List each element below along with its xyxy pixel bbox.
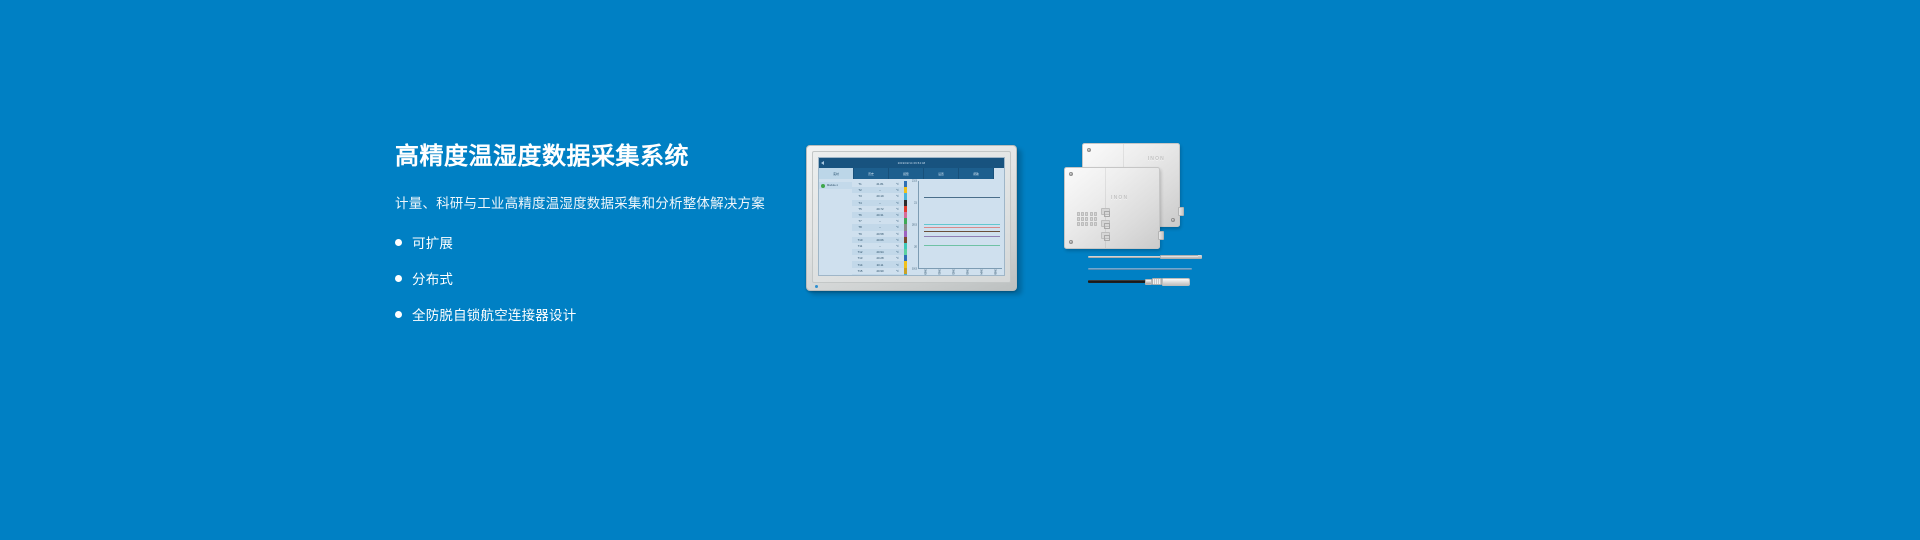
x-tick-label: 09:50:00 bbox=[924, 269, 927, 276]
list-item: 全防脱自锁航空连接器设计 bbox=[395, 304, 815, 324]
y-tick-label: 19.5 bbox=[912, 268, 917, 271]
cell-ch: T15 bbox=[852, 269, 868, 273]
y-tick-label: 20 bbox=[914, 246, 917, 249]
software-titlebar: 2019/02/14 09:54:48 bbox=[819, 158, 1004, 168]
cell-ch: T11 bbox=[852, 244, 868, 248]
cell-ch: T12 bbox=[852, 250, 868, 254]
feature-label: 全防脱自锁航空连接器设计 bbox=[412, 304, 576, 324]
connector-port-icon bbox=[1158, 231, 1164, 240]
probe-cable bbox=[1088, 280, 1148, 282]
cell-ch: T8 bbox=[852, 225, 868, 229]
x-tick-label: 09:54:00 bbox=[980, 269, 983, 276]
cell-unit: ℃ bbox=[892, 256, 903, 260]
cell-val: -- bbox=[868, 201, 892, 205]
page-title: 高精度温湿度数据采集系统 bbox=[395, 142, 815, 172]
tabbar-filler bbox=[994, 168, 1004, 179]
tab-alarm[interactable]: 报警 bbox=[889, 168, 924, 179]
channel-table[interactable]: T121.81℃T2--℃T320.19℃T4--℃T520.72℃T620.3… bbox=[852, 179, 904, 276]
cell-ch: T5 bbox=[852, 207, 868, 211]
list-item: 可扩展 bbox=[395, 232, 815, 252]
cell-val: 20.11 bbox=[868, 263, 892, 267]
page-subtitle: 计量、科研与工业高精度温湿度数据采集和分析整体解决方案 bbox=[395, 192, 815, 212]
feature-label: 分布式 bbox=[412, 268, 453, 288]
hero-copy: 高精度温湿度数据采集系统 计量、科研与工业高精度温湿度数据采集和分析整体解决方案… bbox=[395, 142, 815, 340]
cell-val: -- bbox=[868, 244, 892, 248]
cell-unit: ℃ bbox=[892, 263, 903, 267]
cell-unit: ℃ bbox=[892, 201, 903, 205]
software-tabbar: 实时 历史 报警 设置 帮助 bbox=[819, 168, 1004, 179]
feature-label: 可扩展 bbox=[412, 232, 453, 252]
chart-series-line bbox=[924, 197, 1000, 198]
screw-icon bbox=[1087, 148, 1091, 152]
cell-unit: ℃ bbox=[892, 232, 903, 236]
cell-unit: ℃ bbox=[892, 250, 903, 254]
cell-ch: T7 bbox=[852, 219, 868, 223]
tab-settings[interactable]: 设置 bbox=[924, 168, 959, 179]
cell-unit: ℃ bbox=[892, 244, 903, 248]
chart-series-line bbox=[924, 227, 1000, 228]
cell-val: 21.81 bbox=[868, 182, 892, 186]
chart-y-axis: 21.52120.52019.5 bbox=[907, 181, 918, 269]
chart-series-line bbox=[924, 231, 1000, 232]
cell-val: 20.90 bbox=[868, 269, 892, 273]
terminal-block-icon bbox=[1077, 212, 1097, 226]
cell-unit: ℃ bbox=[892, 269, 903, 273]
cell-val: -- bbox=[868, 225, 892, 229]
product-dataloggers: INON INON bbox=[1064, 143, 1194, 268]
y-tick-label: 21.5 bbox=[912, 180, 917, 183]
aviation-connector-group bbox=[1101, 208, 1110, 239]
hero-banner: 高精度温湿度数据采集系统 计量、科研与工业高精度温湿度数据采集和分析整体解决方案… bbox=[0, 0, 1920, 540]
chart-series-line bbox=[924, 245, 1000, 246]
cell-val: 20.31 bbox=[868, 213, 892, 217]
cell-unit: ℃ bbox=[892, 275, 903, 276]
x-tick-label: 09:52:00 bbox=[952, 269, 955, 276]
chart-series-line bbox=[924, 224, 1000, 225]
screw-icon bbox=[1069, 172, 1073, 176]
cell-val: -- bbox=[868, 219, 892, 223]
brand-logo: INON bbox=[1148, 156, 1165, 162]
probe-lock-nut bbox=[1152, 278, 1162, 285]
cell-ch: T13 bbox=[852, 256, 868, 260]
cell-unit: ℃ bbox=[892, 182, 903, 186]
chart-series-line bbox=[924, 236, 1000, 237]
probe-rod bbox=[1088, 256, 1166, 258]
product-monitor: 2019/02/14 09:54:48 实时 历史 报警 设置 帮助 bbox=[806, 145, 1022, 295]
y-tick-label: 20.5 bbox=[912, 224, 917, 227]
cell-unit: ℃ bbox=[892, 207, 903, 211]
tree-node-label: Module-1 bbox=[827, 184, 838, 187]
bullet-dot-icon bbox=[395, 275, 402, 282]
cell-ch: T14 bbox=[852, 263, 868, 267]
cell-unit: ℃ bbox=[892, 238, 903, 242]
cell-ch: T9 bbox=[852, 232, 868, 236]
y-tick-label: 21 bbox=[914, 202, 917, 205]
aviation-connector-icon bbox=[1101, 208, 1110, 215]
screw-icon bbox=[1069, 240, 1073, 244]
x-tick-label: 09:55:00 bbox=[994, 269, 997, 276]
cell-unit: ℃ bbox=[892, 194, 903, 198]
cell-ch: T16 bbox=[852, 275, 868, 276]
table-row[interactable]: T1620.94℃ bbox=[852, 274, 904, 276]
brand-logo: INON bbox=[1111, 195, 1128, 201]
cell-ch: T1 bbox=[852, 182, 868, 186]
x-tick-label: 09:51:00 bbox=[938, 269, 941, 276]
device-tree: Module-1 bbox=[819, 179, 852, 276]
back-arrow-icon[interactable] bbox=[821, 161, 825, 165]
tab-help[interactable]: 帮助 bbox=[959, 168, 994, 179]
cell-unit: ℃ bbox=[892, 225, 903, 229]
aviation-connector-icon bbox=[1101, 220, 1110, 227]
software-body: Module-1 T121.81℃T2--℃T320.19℃T4--℃T520.… bbox=[819, 179, 1004, 276]
cell-val: 20.94 bbox=[868, 250, 892, 254]
monitor-outer-bezel: 2019/02/14 09:54:48 实时 历史 报警 设置 帮助 bbox=[806, 145, 1017, 291]
probe-barrel bbox=[1162, 278, 1190, 286]
power-led-icon bbox=[815, 285, 818, 288]
tab-realtime[interactable]: 实时 bbox=[819, 168, 854, 179]
feature-list: 可扩展 分布式 全防脱自锁航空连接器设计 bbox=[395, 232, 815, 324]
cell-unit: ℃ bbox=[892, 219, 903, 223]
tab-history[interactable]: 历史 bbox=[854, 168, 889, 179]
monitor-screen: 2019/02/14 09:54:48 实时 历史 报警 设置 帮助 bbox=[818, 157, 1005, 276]
screw-icon bbox=[1171, 218, 1175, 222]
cell-val: 20.66 bbox=[868, 238, 892, 242]
clock-label: 2019/02/14 09:54:48 bbox=[898, 161, 926, 164]
cell-ch: T6 bbox=[852, 213, 868, 217]
cell-val: -- bbox=[868, 188, 892, 192]
probe-ferrule bbox=[1145, 279, 1152, 285]
monitor-inner-bezel: 2019/02/14 09:54:48 实时 历史 报警 设置 帮助 bbox=[812, 151, 1011, 283]
aviation-connector-icon bbox=[1101, 232, 1110, 239]
connector-port-icon bbox=[1178, 207, 1184, 216]
x-tick-label: 09:53:00 bbox=[966, 269, 969, 276]
online-dot-icon bbox=[821, 184, 825, 188]
cell-val: 20.72 bbox=[868, 207, 892, 211]
cell-ch: T10 bbox=[852, 238, 868, 242]
cell-val: 20.58 bbox=[868, 232, 892, 236]
cell-ch: T4 bbox=[852, 201, 868, 205]
bullet-dot-icon bbox=[395, 239, 402, 246]
list-item: 分布式 bbox=[395, 268, 815, 288]
trend-chart: 21.52120.52019.5 09:50:0009:51:0009:52:0… bbox=[907, 179, 1004, 276]
product-probes bbox=[1088, 255, 1218, 300]
cell-unit: ℃ bbox=[892, 188, 903, 192]
cell-val: 20.94 bbox=[868, 275, 892, 276]
probe-sleeve bbox=[1160, 255, 1200, 259]
chart-x-axis: 09:50:0009:51:0009:52:0009:53:0009:54:00… bbox=[918, 269, 1002, 276]
cell-ch: T2 bbox=[852, 188, 868, 192]
cell-val: 20.28 bbox=[868, 256, 892, 260]
bullet-dot-icon bbox=[395, 311, 402, 318]
cell-ch: T3 bbox=[852, 194, 868, 198]
chart-plot-area bbox=[918, 181, 1002, 269]
probe-cable bbox=[1088, 268, 1192, 270]
datalogger-front-unit: INON bbox=[1064, 167, 1160, 249]
cell-unit: ℃ bbox=[892, 213, 903, 217]
probe-tip bbox=[1198, 255, 1202, 259]
cell-val: 20.19 bbox=[868, 194, 892, 198]
tree-node-module[interactable]: Module-1 bbox=[819, 182, 852, 189]
